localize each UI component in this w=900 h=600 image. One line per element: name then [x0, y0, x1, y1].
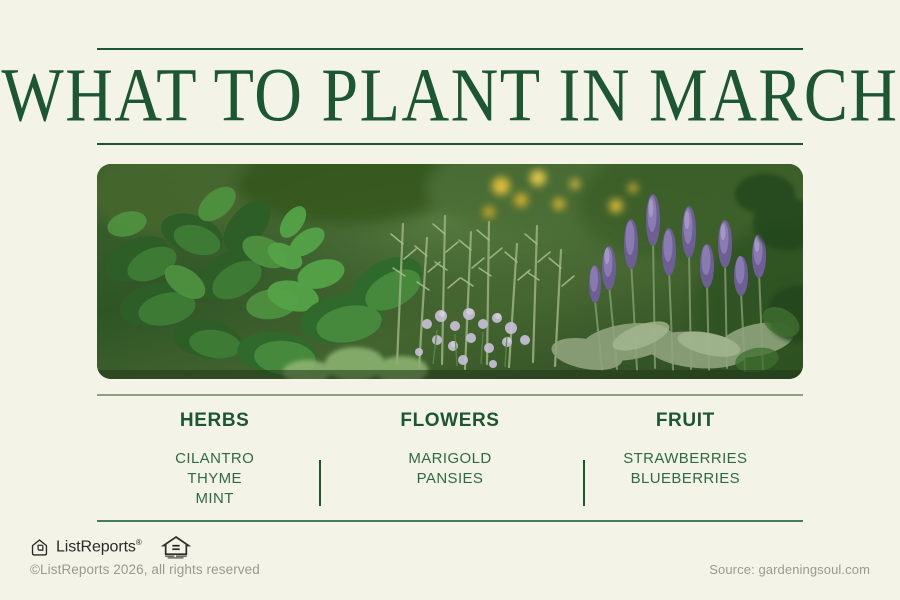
plant-item: PANSIES	[408, 469, 491, 489]
plant-item: THYME	[175, 469, 254, 489]
category-items-herbs: CILANTRO THYME MINT	[175, 449, 254, 509]
source-attribution: Source: gardeningsoul.com	[709, 562, 870, 577]
plant-item: STRAWBERRIES	[623, 449, 747, 469]
category-items-fruit: STRAWBERRIES BLUEBERRIES	[623, 449, 747, 489]
category-column-herbs: HERBS CILANTRO THYME MINT	[97, 404, 332, 512]
plant-item: MINT	[175, 489, 254, 509]
category-column-fruit: FRUIT STRAWBERRIES BLUEBERRIES	[568, 404, 803, 512]
infographic-poster: WHAT TO PLANT IN MARCH	[0, 0, 900, 600]
brand-logo: ListReports®	[30, 534, 191, 560]
title-rule-bottom	[97, 143, 803, 145]
category-heading-fruit: FRUIT	[656, 410, 715, 432]
column-divider-1	[319, 460, 321, 506]
page-title: WHAT TO PLANT IN MARCH	[97, 45, 803, 147]
plant-item: CILANTRO	[175, 449, 254, 469]
section-divider-bottom	[97, 520, 803, 522]
registered-mark-icon: ®	[136, 538, 142, 547]
column-divider-2	[583, 460, 585, 506]
equal-housing-opportunity-icon	[161, 534, 191, 560]
brand-name: ListReports®	[56, 538, 142, 556]
category-heading-flowers: FLOWERS	[400, 410, 499, 432]
hero-photo	[97, 164, 803, 379]
plant-item: BLUEBERRIES	[623, 469, 747, 489]
section-divider-top	[97, 394, 803, 396]
garden-photo-illustration	[97, 164, 803, 379]
plant-item: MARIGOLD	[408, 449, 491, 469]
category-items-flowers: MARIGOLD PANSIES	[408, 449, 491, 489]
copyright-text: ©ListReports 2026, all rights reserved	[30, 562, 260, 577]
category-column-flowers: FLOWERS MARIGOLD PANSIES	[332, 404, 567, 512]
category-heading-herbs: HERBS	[180, 410, 250, 432]
listreports-house-icon	[30, 538, 49, 557]
plant-categories: HERBS CILANTRO THYME MINT FLOWERS MARIGO…	[97, 404, 803, 512]
